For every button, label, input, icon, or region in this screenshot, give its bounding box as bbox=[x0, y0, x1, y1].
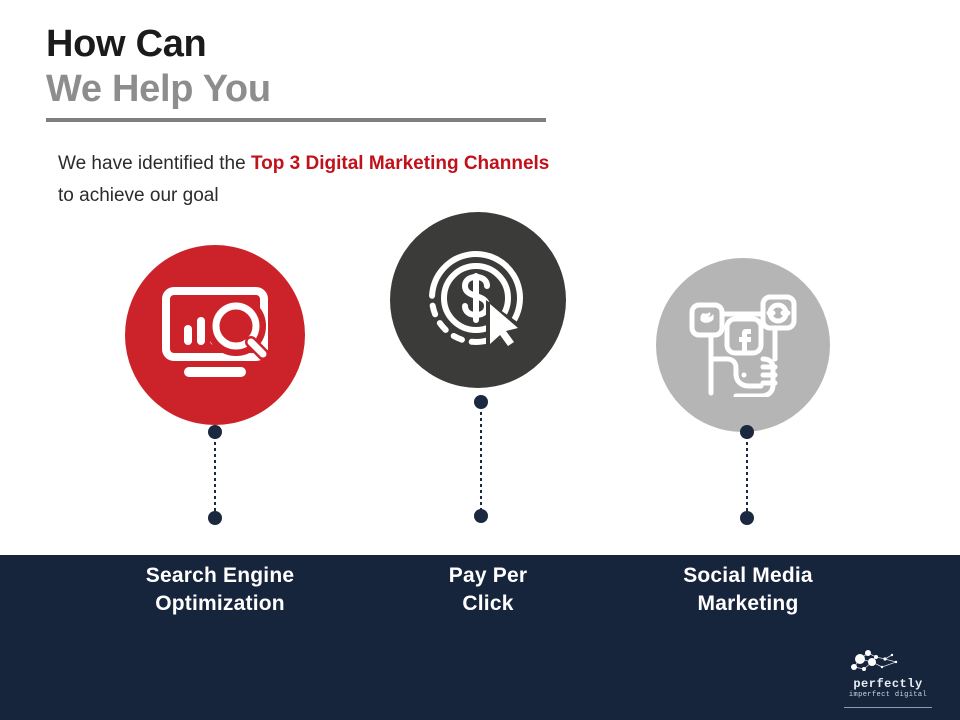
connector-dotted-line bbox=[480, 400, 482, 518]
ppc-connector bbox=[474, 395, 488, 523]
seo-connector bbox=[208, 425, 222, 525]
slide-canvas: How Can We Help You We have identified t… bbox=[0, 0, 960, 720]
logo-name-text: perfectly bbox=[832, 677, 944, 691]
social-media-hand-signs-icon bbox=[689, 293, 797, 397]
label-line-2: Marketing bbox=[628, 590, 868, 618]
social-media-connector bbox=[740, 425, 754, 525]
label-line-2: Click bbox=[368, 590, 608, 618]
label-social-media-marketing: Social Media Marketing bbox=[628, 562, 868, 618]
connector-dot-bottom bbox=[740, 511, 754, 525]
label-line-1: Social Media bbox=[628, 562, 868, 590]
social-media-circle-badge[interactable] bbox=[656, 258, 830, 432]
label-line-1: Pay Per bbox=[368, 562, 608, 590]
logo-tagline-text: imperfect digital bbox=[832, 691, 944, 699]
ppc-circle-badge[interactable] bbox=[390, 212, 566, 388]
brand-logo: perfectly imperfect digital bbox=[832, 650, 944, 712]
seo-monitor-chart-magnifier-icon bbox=[160, 287, 270, 383]
label-line-1: Search Engine bbox=[100, 562, 340, 590]
connector-dot-bottom bbox=[474, 509, 488, 523]
seo-circle-badge[interactable] bbox=[125, 245, 305, 425]
label-pay-per-click: Pay Per Click bbox=[368, 562, 608, 618]
connector-dotted-line bbox=[746, 430, 748, 520]
label-search-engine-optimization: Search Engine Optimization bbox=[100, 562, 340, 618]
connector-dotted-line bbox=[214, 430, 216, 520]
connector-dot-bottom bbox=[208, 511, 222, 525]
ppc-dollar-coin-cursor-icon bbox=[426, 248, 530, 352]
label-line-2: Optimization bbox=[100, 590, 340, 618]
logo-underline bbox=[844, 707, 932, 708]
